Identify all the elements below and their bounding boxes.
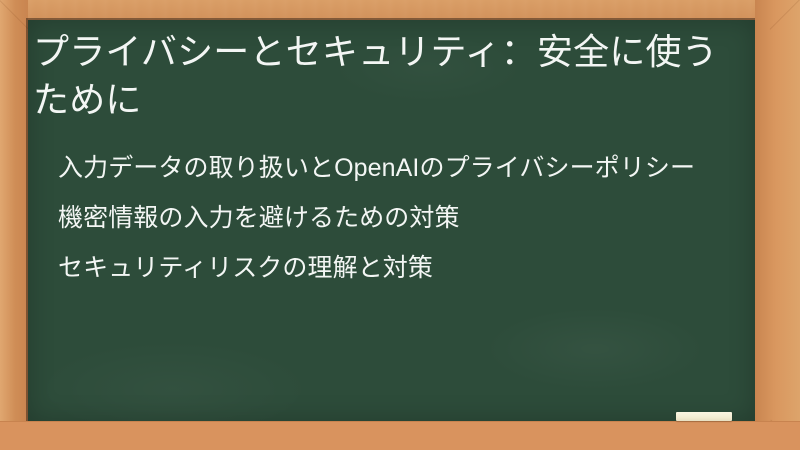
- list-item: 機密情報の入力を避けるための対策: [58, 201, 738, 235]
- chalkboard: プライバシーとセキュリティ：安全に使うために 入力データの取り扱いとOpenAI…: [28, 20, 755, 421]
- frame-miter-top-left: [0, 0, 30, 30]
- chalk-ledge: [0, 421, 800, 450]
- wooden-frame: プライバシーとセキュリティ：安全に使うために 入力データの取り扱いとOpenAI…: [0, 0, 800, 450]
- slide-title: プライバシーとセキュリティ：安全に使うために: [33, 28, 723, 124]
- frame-miter-top-right: [770, 0, 800, 30]
- frame-rail-left: [0, 0, 28, 450]
- list-item: 入力データの取り扱いとOpenAIのプライバシーポリシー: [58, 151, 738, 185]
- slide-bullet-list: 入力データの取り扱いとOpenAIのプライバシーポリシー 機密情報の入力を避ける…: [58, 151, 738, 285]
- frame-rail-right: [755, 0, 800, 450]
- frame-rail-top: [0, 0, 800, 20]
- list-item: セキュリティリスクの理解と対策: [58, 251, 738, 285]
- chalk-stick: [676, 412, 732, 421]
